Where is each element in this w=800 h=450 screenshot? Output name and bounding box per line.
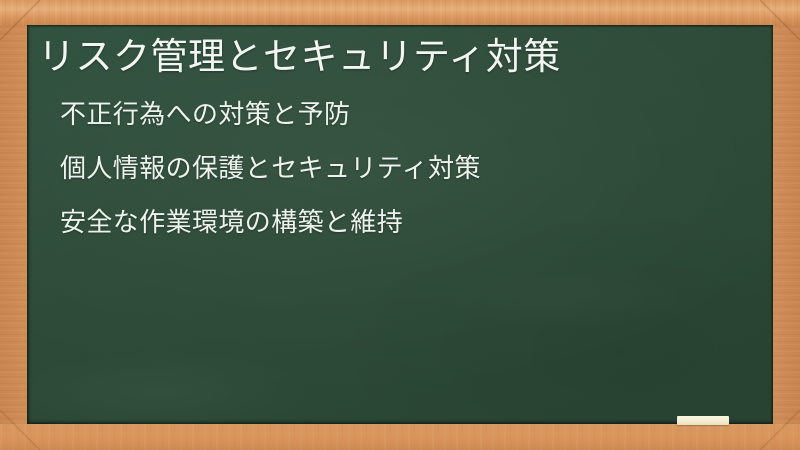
bullet-item-3: 安全な作業環境の構築と維持 — [60, 209, 753, 235]
bullet-item-2: 個人情報の保護とセキュリティ対策 — [60, 155, 753, 181]
frame-rail-top — [0, 0, 800, 26]
chalkboard-slide: リスク管理とセキュリティ対策 不正行為への対策と予防 個人情報の保護とセキュリテ… — [0, 0, 800, 450]
bullet-list: 不正行為への対策と予防 個人情報の保護とセキュリティ対策 安全な作業環境の構築と… — [60, 101, 753, 235]
chalk-stick — [677, 416, 729, 425]
slide-title: リスク管理とセキュリティ対策 — [38, 33, 561, 81]
bullet-item-1: 不正行為への対策と予防 — [60, 101, 753, 127]
chalkboard-surface: リスク管理とセキュリティ対策 不正行為への対策と予防 個人情報の保護とセキュリテ… — [27, 25, 773, 424]
frame-rail-bottom — [0, 424, 800, 450]
